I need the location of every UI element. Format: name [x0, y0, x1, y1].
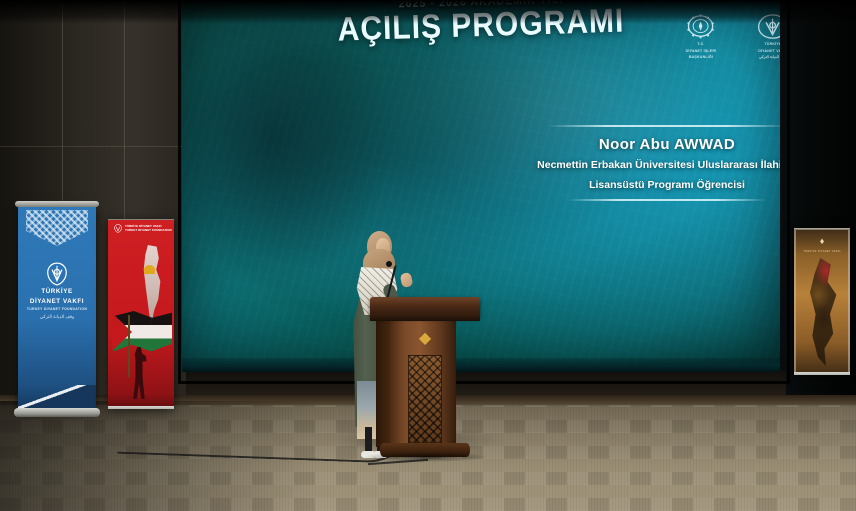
tdv-monogram — [18, 262, 96, 291]
banner-palestine: TÜRKİYE DİYANET VAKFI TURKEY DIYANET FOU… — [108, 219, 174, 409]
banner-amber-right: ♦ TÜRKİYE DİYANET VAKFI — [794, 228, 850, 375]
banner-caption: TÜRKİYE DİYANET VAKFI — [794, 250, 850, 253]
podium-contact-shadow — [364, 452, 488, 462]
ornamental-lace-pattern — [26, 210, 88, 246]
child-silhouette — [128, 347, 150, 399]
banner-arabic-text: وقف الديانة التركي — [18, 314, 96, 320]
speaker-podium: ◆ — [372, 297, 480, 460]
dome-of-the-rock-icon — [144, 265, 155, 274]
podium-carved-lattice — [408, 355, 442, 443]
screen-bottom-edge — [182, 358, 780, 372]
banner-base — [108, 406, 174, 409]
banner-turkiye-diyanet-vakfi: TÜRKİYE DİYANET VAKFI TURKEY DIYANET FOU… — [18, 206, 96, 411]
led-presentation-screen: 2025 - 2026 AKADEMİK YILI AÇILIŞ PROGRAM… — [182, 0, 780, 372]
banner-subtitle: TURKEY DIYANET FOUNDATION — [18, 307, 96, 311]
microphone-head-icon — [386, 261, 392, 267]
tdv-crest-icon: ♦ — [794, 236, 850, 246]
ceiling-shadow — [0, 0, 856, 24]
banner-header-caption-2: TURKEY DIYANET FOUNDATION — [125, 229, 172, 233]
banner-top-pole — [108, 219, 174, 220]
photo-scene: 2025 - 2026 AKADEMİK YILI AÇILIŞ PROGRAM… — [0, 0, 856, 511]
tdv-monogram-icon — [46, 262, 68, 286]
speaker-hand — [400, 272, 414, 288]
tdv-monogram-icon — [114, 224, 122, 233]
speaker-leg-left — [365, 427, 372, 453]
podium-top-lip — [370, 314, 480, 321]
banner-title-line-2: DİYANET VAKFI — [18, 298, 96, 305]
banner-header-logo: TÜRKİYE DİYANET VAKFI TURKEY DIYANET FOU… — [114, 224, 172, 233]
banner-title-line-1: TÜRKİYE — [18, 288, 96, 295]
flag-pole — [128, 315, 130, 377]
banner-top-pole — [15, 201, 99, 207]
podium-gold-emblem-icon: ◆ — [417, 328, 433, 350]
banner-base — [794, 372, 850, 375]
screen-vignette — [182, 0, 780, 372]
banner-base — [14, 408, 100, 417]
